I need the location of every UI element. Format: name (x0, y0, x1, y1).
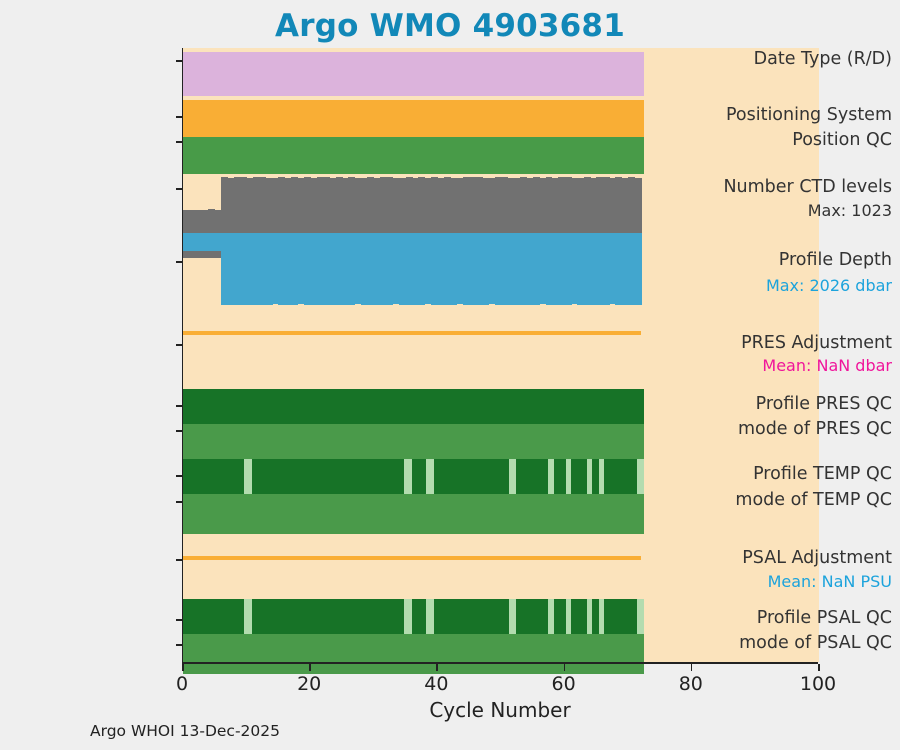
y-tick (176, 116, 182, 118)
y-tick (176, 430, 182, 432)
x-tick-label: 0 (176, 673, 188, 695)
y-tick (176, 475, 182, 477)
footer-credit: Argo WHOI 13-Dec-2025 (90, 722, 280, 740)
x-axis (182, 662, 818, 664)
segment-profile_temp_qc-alt (566, 459, 571, 494)
x-tick (436, 664, 438, 671)
band-profile_temp_qc (183, 459, 644, 494)
y-tick (176, 141, 182, 143)
y-tick (176, 188, 182, 190)
band-mode_psal_qc (183, 634, 644, 674)
y-label-profile_pres_qc: Profile PRES QC (718, 394, 900, 415)
x-tick (691, 664, 693, 671)
y-label-mode_temp_qc: mode of TEMP QC (718, 490, 900, 511)
y-tick (176, 261, 182, 263)
y-tick (176, 60, 182, 62)
y-tick (176, 644, 182, 646)
y-label-mode_pres_qc: mode of PRES QC (718, 419, 900, 440)
y-tick (176, 619, 182, 621)
segment-profile_psal_qc-alt (548, 599, 554, 634)
segment-profile_temp_qc-alt (509, 459, 517, 494)
band-profile_psal_qc (183, 599, 644, 634)
y-sublabel-pres_adj: Mean: NaN dbar (718, 357, 900, 376)
y-label-positioning: Positioning System (718, 105, 900, 126)
segment-profile_temp_qc-alt (244, 459, 252, 494)
segment-profile_temp_qc-alt (426, 459, 434, 494)
segment-profile_psal_qc-alt (566, 599, 571, 634)
y-tick (176, 344, 182, 346)
y-label-pres_adj: PRES Adjustment (718, 333, 900, 354)
x-tick (182, 664, 184, 671)
y-label-ctd_levels: Number CTD levels (718, 177, 900, 198)
y-label-profile_psal_qc: Profile PSAL QC (718, 608, 900, 629)
x-tick-label: 100 (800, 673, 836, 695)
segment-profile_psal_qc-alt (509, 599, 517, 634)
segment-profile_psal_qc-alt (599, 599, 604, 634)
chart-title: Argo WMO 4903681 (0, 8, 900, 44)
band-positioning (183, 100, 644, 137)
chart-figure: Argo WMO 4903681 Date Type (R/D)Position… (0, 0, 900, 750)
segment-profile_psal_qc-alt (587, 599, 591, 634)
y-tick (176, 559, 182, 561)
y-label-profile_depth: Profile Depth (718, 250, 900, 271)
segment-profile_temp_qc-alt (587, 459, 591, 494)
x-tick (818, 664, 820, 671)
y-tick (176, 501, 182, 503)
x-axis-title: Cycle Number (182, 698, 818, 722)
segment-profile_psal_qc-alt (637, 599, 644, 634)
band-position_qc (183, 137, 644, 174)
x-tick (564, 664, 566, 671)
y-tick (176, 405, 182, 407)
y-sublabel-psal_adj: Mean: NaN PSU (718, 573, 900, 592)
x-tick-label: 80 (679, 673, 703, 695)
y-label-mode_psal_qc: mode of PSAL QC (718, 633, 900, 654)
band-profile_pres_qc (183, 389, 644, 424)
band-date_type (183, 52, 644, 96)
y-label-profile_temp_qc: Profile TEMP QC (718, 464, 900, 485)
y-label-psal_adj: PSAL Adjustment (718, 548, 900, 569)
segment-profile_psal_qc-alt (404, 599, 412, 634)
band-mode_temp_qc (183, 494, 644, 534)
x-tick (309, 664, 311, 671)
segment-profile_temp_qc-alt (548, 459, 554, 494)
x-tick-label: 40 (424, 673, 448, 695)
segment-profile_temp_qc-alt (599, 459, 604, 494)
segment-profile_temp_qc-alt (404, 459, 412, 494)
band-mode_pres_qc (183, 424, 644, 459)
y-label-position_qc: Position QC (718, 130, 900, 151)
x-tick-label: 60 (552, 673, 576, 695)
bar-profile-depth (635, 233, 642, 305)
y-label-date_type: Date Type (R/D) (718, 49, 900, 70)
y-sublabel-ctd_levels: Max: 1023 (718, 202, 900, 221)
line-pres_adj (183, 331, 641, 335)
y-sublabel-profile_depth: Max: 2026 dbar (718, 277, 900, 296)
segment-profile_temp_qc-alt (637, 459, 644, 494)
line-psal_adj (183, 556, 641, 560)
x-tick-label: 20 (297, 673, 321, 695)
segment-profile_psal_qc-alt (426, 599, 434, 634)
segment-profile_psal_qc-alt (244, 599, 252, 634)
